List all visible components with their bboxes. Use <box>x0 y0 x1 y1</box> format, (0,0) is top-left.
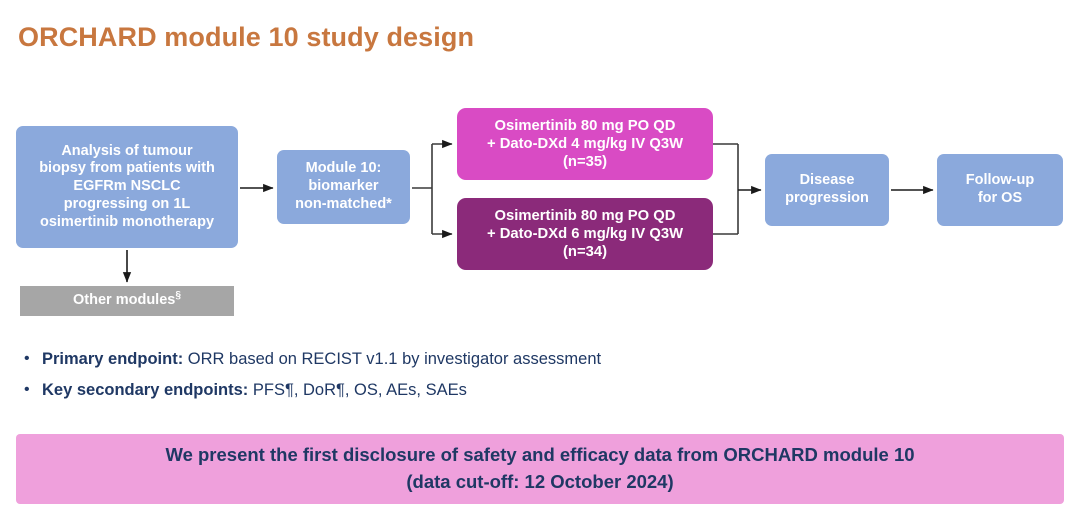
followup-line-2: for OS <box>966 190 1034 208</box>
other-modules-label: Other modules <box>73 292 175 308</box>
box-treatment-arm-2[interactable]: Osimertinib 80 mg PO QD + Dato-DXd 6 mg/… <box>457 198 713 270</box>
list-item: • Primary endpoint: ORR based on RECIST … <box>20 348 880 370</box>
banner-line-2: (data cut-off: 12 October 2024) <box>406 469 673 496</box>
arm1-line-3: (n=35) <box>487 153 683 171</box>
endpoint-text: Key secondary endpoints: PFS¶, DoR¶, OS,… <box>42 379 467 401</box>
box-disease-progression[interactable]: Disease progression <box>765 154 889 226</box>
arm1-line-1: Osimertinib 80 mg PO QD <box>487 117 683 135</box>
disclosure-banner: We present the first disclosure of safet… <box>16 434 1064 504</box>
module10-line-2: biomarker <box>295 178 392 196</box>
box-module-10-biomarker-non-matched[interactable]: Module 10: biomarker non-matched* <box>277 150 410 224</box>
arm2-line-1: Osimertinib 80 mg PO QD <box>487 207 683 225</box>
bullet-icon: • <box>20 379 42 401</box>
box-treatment-arm-1[interactable]: Osimertinib 80 mg PO QD + Dato-DXd 4 mg/… <box>457 108 713 180</box>
analysis-line-1: Analysis of tumour <box>39 143 215 161</box>
endpoint-text: Primary endpoint: ORR based on RECIST v1… <box>42 348 601 370</box>
arm1-line-2: + Dato-DXd 4 mg/kg IV Q3W <box>487 135 683 153</box>
module10-line-3: non-matched* <box>295 196 392 214</box>
arm2-line-2: + Dato-DXd 6 mg/kg IV Q3W <box>487 225 683 243</box>
analysis-line-2: biopsy from patients with <box>39 160 215 178</box>
endpoint-description: PFS¶, DoR¶, OS, AEs, SAEs <box>253 381 467 399</box>
analysis-line-5: osimertinib monotherapy <box>39 214 215 232</box>
endpoint-label: Primary endpoint: <box>42 350 188 368</box>
banner-line-1: We present the first disclosure of safet… <box>165 442 914 469</box>
box-follow-up-for-os[interactable]: Follow-up for OS <box>937 154 1063 226</box>
progression-line-2: progression <box>785 190 869 208</box>
box-analysis-of-tumour-biopsy[interactable]: Analysis of tumour biopsy from patients … <box>16 126 238 248</box>
other-modules-footnote-marker: § <box>175 290 181 301</box>
module10-line-1: Module 10: <box>295 160 392 178</box>
page-title: ORCHARD module 10 study design <box>18 22 474 53</box>
endpoint-description: ORR based on RECIST v1.1 by investigator… <box>188 350 601 368</box>
box-other-modules[interactable]: Other modules§ <box>20 286 234 316</box>
endpoints-list: • Primary endpoint: ORR based on RECIST … <box>20 348 880 411</box>
analysis-line-3: EGFRm NSCLC <box>39 178 215 196</box>
endpoint-label: Key secondary endpoints: <box>42 381 253 399</box>
list-item: • Key secondary endpoints: PFS¶, DoR¶, O… <box>20 379 880 401</box>
followup-line-1: Follow-up <box>966 172 1034 190</box>
bullet-icon: • <box>20 348 42 370</box>
progression-line-1: Disease <box>785 172 869 190</box>
arm2-line-3: (n=34) <box>487 243 683 261</box>
analysis-line-4: progressing on 1L <box>39 196 215 214</box>
